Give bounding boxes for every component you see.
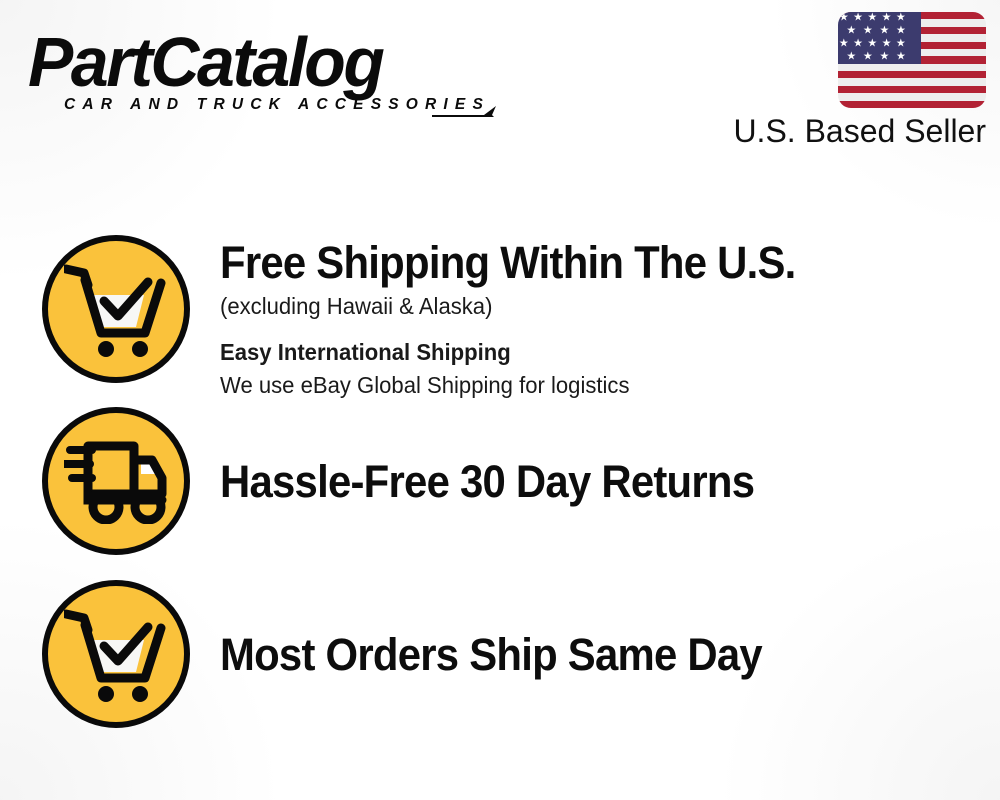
feature-row: Most Orders Ship Same Day <box>42 580 962 728</box>
feature-row: Free Shipping Within The U.S. (excluding… <box>42 235 962 401</box>
flag-star: ★ <box>839 39 849 50</box>
flag-star: ★ <box>839 13 849 24</box>
flag-star: ★ <box>853 39 863 50</box>
flag-stripe <box>838 64 986 71</box>
flag-star: ★ <box>867 39 877 50</box>
flag-star: ★ <box>853 13 863 24</box>
brand-logo: PartCatalog CAR AND TRUCK ACCESSORIES <box>22 26 492 118</box>
flag-star: ★ <box>896 39 906 50</box>
feature-sub-plain: We use eBay Global Shipping for logistic… <box>220 369 814 401</box>
brand-swoosh-icon <box>432 106 496 117</box>
flag-star: ★ <box>896 52 906 63</box>
feature-heading: Most Orders Ship Same Day <box>220 629 762 681</box>
flag-star: ★ <box>846 52 856 63</box>
seller-label: U.S. Based Seller <box>733 112 986 150</box>
us-based-seller-badge: ★★★★★★★★★★★★★★★★★★ U.S. Based Seller <box>716 12 986 150</box>
brand-wordmark: PartCatalog <box>28 26 382 98</box>
flag-star: ★ <box>863 52 873 63</box>
flag-star: ★ <box>896 13 906 24</box>
feature-text-block: Free Shipping Within The U.S. (excluding… <box>220 235 839 401</box>
feature-text-block: Hassle-Free 30 Day Returns <box>220 454 794 508</box>
feature-heading: Free Shipping Within The U.S. <box>220 237 796 289</box>
shopping-cart-check-icon <box>42 580 190 728</box>
delivery-truck-icon <box>42 407 190 555</box>
feature-heading: Hassle-Free 30 Day Returns <box>220 456 754 508</box>
us-flag-icon: ★★★★★★★★★★★★★★★★★★ <box>838 12 986 108</box>
truck-glyph <box>64 438 168 524</box>
flag-canton: ★★★★★★★★★★★★★★★★★★ <box>838 12 921 64</box>
flag-star: ★ <box>882 39 892 50</box>
feature-subnote: (excluding Hawaii & Alaska) <box>220 290 814 322</box>
feature-text-block: Most Orders Ship Same Day <box>220 627 803 681</box>
flag-stripe <box>838 93 986 100</box>
feature-sub-bold: Easy International Shipping <box>220 336 814 368</box>
flag-star: ★ <box>867 13 877 24</box>
flag-star: ★ <box>846 26 856 37</box>
flag-star: ★ <box>879 52 889 63</box>
flag-stripe <box>838 78 986 85</box>
flag-stripe <box>838 101 986 108</box>
flag-star: ★ <box>882 13 892 24</box>
flag-star: ★ <box>863 26 873 37</box>
cart-glyph <box>64 606 168 702</box>
cart-glyph <box>64 261 168 357</box>
brand-tagline: CAR AND TRUCK ACCESSORIES <box>64 96 490 114</box>
flag-stripe <box>838 86 986 93</box>
flag-star: ★ <box>879 26 889 37</box>
flag-stripe <box>838 71 986 78</box>
feature-row: Hassle-Free 30 Day Returns <box>42 407 962 555</box>
shopping-cart-check-icon <box>42 235 190 383</box>
flag-star: ★ <box>896 26 906 37</box>
